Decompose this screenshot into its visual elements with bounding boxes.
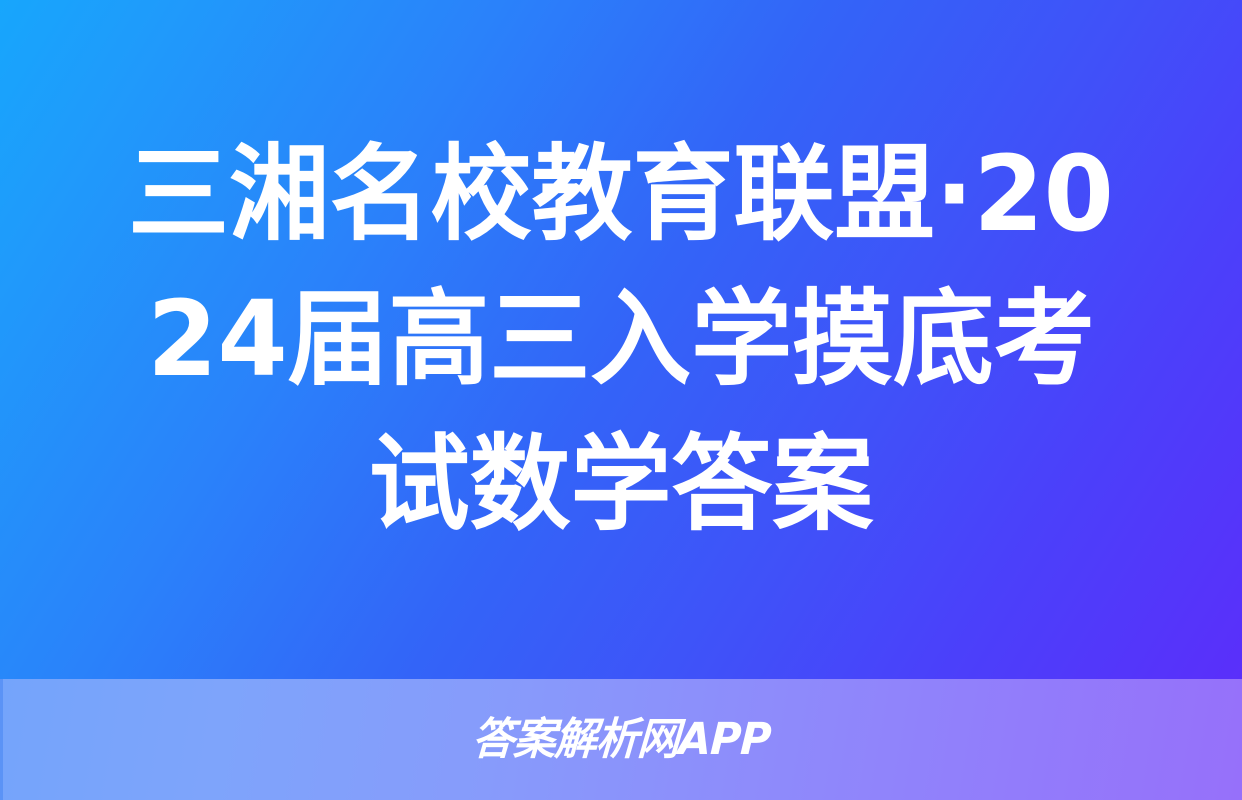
watermark-brand-label: 答案解析网APP (471, 718, 771, 762)
poster-container: 三湘名校教育联盟·2024届高三入学摸底考试数学答案 答案解析网APP (0, 0, 1242, 800)
watermark-band: 答案解析网APP (0, 679, 1242, 800)
hero-gradient-panel: 三湘名校教育联盟·2024届高三入学摸底考试数学答案 (0, 0, 1242, 679)
page-title: 三湘名校教育联盟·2024届高三入学摸底考试数学答案 (102, 122, 1140, 557)
